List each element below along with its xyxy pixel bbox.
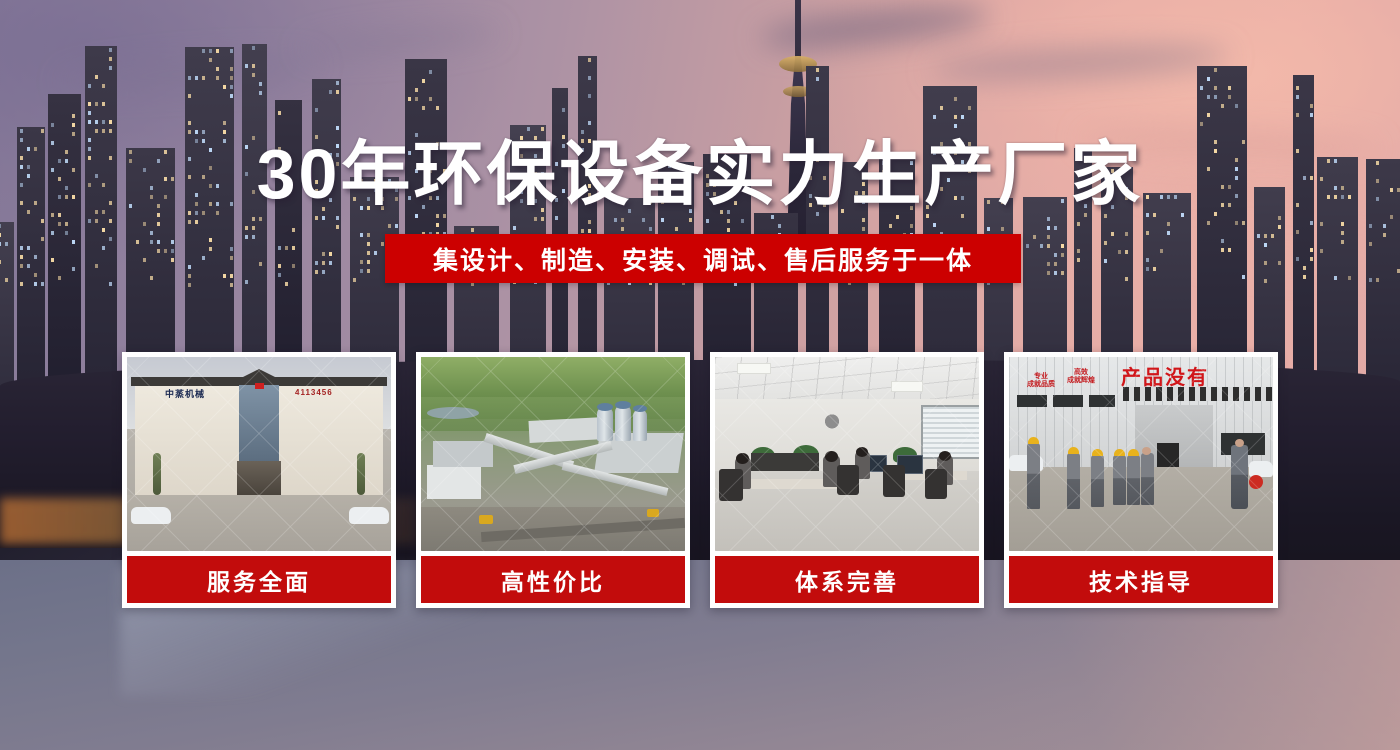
window-light — [727, 228, 730, 232]
window-light — [41, 237, 44, 241]
window-light — [1278, 225, 1281, 229]
window-light — [1026, 244, 1029, 248]
window-light — [223, 274, 226, 278]
window-light — [188, 121, 191, 125]
window-light — [1235, 104, 1238, 108]
window-light — [109, 129, 112, 133]
window-light — [188, 94, 191, 98]
window-light — [360, 269, 363, 273]
window-light — [285, 282, 288, 286]
window-light — [408, 97, 411, 101]
window-light — [1235, 221, 1238, 225]
window-light — [171, 258, 174, 262]
feature-card-label-text: 高性价比 — [501, 563, 605, 597]
banner-headline: 30年环保设备实力生产厂家 — [0, 136, 1400, 212]
window-light — [588, 220, 591, 224]
window-light — [381, 242, 384, 246]
photo-watermark — [127, 357, 391, 551]
window-light — [1153, 213, 1156, 217]
window-light — [150, 240, 153, 244]
window-light — [58, 276, 61, 280]
window-light — [292, 246, 295, 250]
window-light — [315, 216, 318, 220]
window-light — [388, 224, 391, 228]
window-light — [202, 130, 205, 134]
window-light — [889, 224, 892, 228]
window-light — [109, 66, 112, 70]
window-light — [961, 115, 964, 119]
window-light — [588, 121, 591, 125]
window-light — [621, 227, 624, 231]
window-light — [20, 282, 23, 286]
window-light — [143, 222, 146, 226]
window-light — [954, 115, 957, 119]
window-light — [209, 58, 212, 62]
window-light — [336, 90, 339, 94]
window-light — [102, 129, 105, 133]
window-light — [230, 49, 233, 53]
window-light — [415, 214, 418, 218]
window-light — [1200, 122, 1203, 126]
window-light — [1264, 279, 1267, 283]
window-light — [157, 249, 160, 253]
window-light — [51, 231, 54, 235]
window-light — [1104, 259, 1107, 263]
window-light — [1296, 113, 1299, 117]
window-light — [230, 283, 233, 287]
window-light — [1047, 226, 1050, 230]
window-light — [1047, 271, 1050, 275]
window-light — [157, 240, 160, 244]
window-light — [252, 217, 255, 221]
window-light — [1390, 215, 1393, 219]
window-light — [1296, 86, 1299, 90]
window-light — [954, 124, 957, 128]
window-light — [1125, 232, 1128, 236]
workers-training-photo: 产品没有 专业成就品质 高效成就辉煌 — [1009, 357, 1273, 551]
window-light — [1214, 86, 1217, 90]
window-light — [336, 216, 339, 220]
window-light — [1320, 222, 1323, 226]
window-light — [102, 102, 105, 106]
window-light — [34, 255, 37, 259]
window-light — [88, 111, 91, 115]
window-light — [429, 97, 432, 101]
window-light — [41, 219, 44, 223]
window-light — [0, 233, 1, 237]
window-light — [322, 261, 325, 265]
window-light — [1310, 113, 1313, 117]
window-light — [1047, 244, 1050, 248]
feature-card-system[interactable]: 体系完善 — [710, 352, 984, 608]
window-light — [1033, 235, 1036, 239]
office-interior-photo — [715, 357, 979, 551]
window-light — [1310, 248, 1313, 252]
window-light — [1047, 235, 1050, 239]
window-light — [1369, 242, 1372, 246]
banner-subtitle-text: 集设计、制造、安装、调试、售后服务于一体 — [433, 241, 973, 277]
window-light — [661, 218, 664, 222]
window-light — [27, 264, 30, 268]
window-light — [1214, 95, 1217, 99]
window-light — [216, 49, 219, 53]
window-light — [1200, 86, 1203, 90]
window-light — [415, 88, 418, 92]
window-light — [933, 223, 936, 227]
window-light — [1061, 271, 1064, 275]
window-light — [336, 81, 339, 85]
window-light — [102, 246, 105, 250]
feature-card-label: 体系完善 — [715, 556, 979, 603]
window-light — [72, 114, 75, 118]
feature-card-training[interactable]: 产品没有 专业成就品质 高效成就辉煌 — [1004, 352, 1278, 608]
window-light — [395, 224, 398, 228]
company-office-building-photo: 中蒸机械 4113456 — [127, 357, 391, 551]
window-light — [1221, 104, 1224, 108]
window-light — [1054, 253, 1057, 257]
window-light — [202, 49, 205, 53]
window-light — [150, 276, 153, 280]
window-light — [72, 240, 75, 244]
window-light — [1264, 243, 1267, 247]
window-light — [1153, 267, 1156, 271]
banner-subtitle-bar: 集设计、制造、安装、调试、售后服务于一体 — [385, 234, 1021, 283]
window-light — [278, 273, 281, 277]
window-light — [41, 129, 44, 133]
window-light — [741, 219, 744, 223]
window-light — [940, 106, 943, 110]
window-light — [675, 227, 678, 231]
window-light — [1264, 261, 1267, 265]
window-light — [1383, 224, 1386, 228]
photo-watermark — [421, 357, 685, 551]
window-light — [65, 222, 68, 226]
window-light — [436, 106, 439, 110]
window-light — [534, 217, 537, 221]
window-light — [88, 84, 91, 88]
window-light — [527, 127, 530, 131]
window-light — [322, 252, 325, 256]
window-light — [1334, 276, 1337, 280]
window-light — [88, 120, 91, 124]
window-light — [588, 94, 591, 98]
window-light — [541, 127, 544, 131]
window-light — [188, 130, 191, 134]
window-light — [1271, 234, 1274, 238]
window-light — [360, 233, 363, 237]
window-light — [5, 242, 8, 246]
window-light — [649, 227, 652, 231]
window-light — [195, 130, 198, 134]
window-light — [1214, 212, 1217, 216]
window-light — [223, 130, 226, 134]
window-light — [422, 79, 425, 83]
window-light — [1296, 95, 1299, 99]
window-light — [336, 126, 339, 130]
window-light — [171, 249, 174, 253]
window-light — [88, 219, 91, 223]
window-light — [1214, 68, 1217, 72]
window-light — [1160, 249, 1163, 253]
window-light — [188, 283, 191, 287]
window-light — [1383, 233, 1386, 237]
window-light — [1296, 257, 1299, 261]
window-light — [1181, 213, 1184, 217]
window-light — [1047, 262, 1050, 266]
window-light — [95, 102, 98, 106]
window-light — [230, 94, 233, 98]
feature-card-label-text: 体系完善 — [795, 563, 899, 597]
window-light — [862, 227, 865, 231]
window-light — [292, 228, 295, 232]
window-light — [1054, 271, 1057, 275]
feature-card-row: 中蒸机械 4113456 服务全面 — [122, 352, 1278, 608]
window-light — [1278, 216, 1281, 220]
window-light — [259, 262, 262, 266]
window-light — [195, 76, 198, 80]
window-light — [20, 264, 23, 268]
window-light — [95, 120, 98, 124]
window-light — [367, 233, 370, 237]
window-light — [689, 218, 692, 222]
hero-banner: 30年环保设备实力生产厂家 集设计、制造、安装、调试、售后服务于一体 中蒸机械 … — [0, 0, 1400, 750]
window-light — [252, 64, 255, 68]
window-light — [367, 251, 370, 255]
window-light — [51, 123, 54, 127]
window-light — [367, 269, 370, 273]
window-light — [72, 267, 75, 271]
window-light — [245, 280, 248, 284]
window-light — [422, 106, 425, 110]
window-light — [216, 67, 219, 71]
window-light — [102, 228, 105, 232]
window-light — [252, 46, 255, 50]
window-light — [1061, 244, 1064, 248]
window-light — [1084, 213, 1087, 217]
window-light — [1207, 95, 1210, 99]
window-light — [1167, 222, 1170, 226]
window-light — [1146, 213, 1149, 217]
window-light — [1061, 253, 1064, 257]
window-light — [1341, 231, 1344, 235]
window-light — [109, 120, 112, 124]
window-light — [202, 76, 205, 80]
window-light — [34, 282, 37, 286]
window-light — [862, 218, 865, 222]
window-light — [65, 231, 68, 235]
window-light — [910, 224, 913, 228]
window-light — [1376, 278, 1379, 282]
window-light — [95, 219, 98, 223]
window-light — [230, 85, 233, 89]
feature-card-value[interactable]: 高性价比 — [416, 352, 690, 608]
window-light — [95, 129, 98, 133]
window-light — [415, 97, 418, 101]
window-light — [1111, 232, 1114, 236]
window-light — [933, 115, 936, 119]
window-light — [230, 76, 233, 80]
window-light — [27, 246, 30, 250]
window-light — [1221, 248, 1224, 252]
window-light — [188, 265, 191, 269]
window-light — [555, 216, 558, 220]
window-light — [588, 58, 591, 62]
window-light — [188, 274, 191, 278]
window-light — [0, 242, 1, 246]
window-light — [202, 256, 205, 260]
window-light — [1104, 214, 1107, 218]
window-light — [1146, 231, 1149, 235]
window-light — [109, 57, 112, 61]
window-light — [541, 217, 544, 221]
window-light — [778, 224, 781, 228]
window-light — [51, 258, 54, 262]
window-light — [58, 222, 61, 226]
window-light — [209, 247, 212, 251]
window-light — [223, 121, 226, 125]
window-light — [0, 260, 1, 264]
window-light — [1320, 249, 1323, 253]
window-light — [642, 218, 645, 222]
window-light — [1369, 224, 1372, 228]
window-light — [252, 226, 255, 230]
window-light — [1242, 221, 1245, 225]
window-light — [188, 76, 191, 80]
window-light — [109, 219, 112, 223]
window-light — [1125, 250, 1128, 254]
window-light — [51, 213, 54, 217]
window-light — [109, 282, 112, 286]
window-light — [1348, 276, 1351, 280]
window-light — [367, 242, 370, 246]
window-light — [1264, 234, 1267, 238]
window-light — [88, 102, 91, 106]
window-light — [0, 224, 1, 228]
window-light — [230, 247, 233, 251]
window-light — [1310, 104, 1313, 108]
window-light — [436, 214, 439, 218]
window-light — [968, 106, 971, 110]
window-light — [954, 97, 957, 101]
window-light — [727, 219, 730, 223]
window-light — [1242, 275, 1245, 279]
window-light — [1146, 258, 1149, 262]
window-light — [209, 49, 212, 53]
window-light — [5, 278, 8, 282]
window-light — [588, 76, 591, 80]
window-light — [771, 215, 774, 219]
window-light — [1146, 267, 1149, 271]
window-light — [360, 260, 363, 264]
feature-card-service[interactable]: 中蒸机械 4113456 服务全面 — [122, 352, 396, 608]
window-light — [278, 246, 281, 250]
window-light — [278, 264, 281, 268]
window-light — [581, 229, 584, 233]
window-light — [1228, 86, 1231, 90]
window-light — [1310, 257, 1313, 261]
window-light — [1303, 266, 1306, 270]
window-light — [926, 214, 929, 218]
window-light — [621, 218, 624, 222]
window-light — [562, 108, 565, 112]
window-light — [252, 235, 255, 239]
window-light — [102, 84, 105, 88]
window-light — [1167, 231, 1170, 235]
window-light — [987, 227, 990, 231]
window-light — [72, 123, 75, 127]
window-light — [443, 214, 446, 218]
feature-card-label: 技术指导 — [1009, 556, 1273, 603]
window-light — [1040, 244, 1043, 248]
window-light — [315, 108, 318, 112]
window-light — [171, 240, 174, 244]
window-light — [315, 261, 318, 265]
window-light — [230, 67, 233, 71]
window-light — [109, 48, 112, 52]
window-light — [20, 129, 23, 133]
window-light — [816, 77, 819, 81]
window-light — [1221, 239, 1224, 243]
window-light — [329, 261, 332, 265]
window-light — [157, 213, 160, 217]
window-light — [230, 256, 233, 260]
feature-card-label: 高性价比 — [421, 556, 685, 603]
window-light — [95, 264, 98, 268]
window-light — [292, 264, 295, 268]
window-light — [329, 90, 332, 94]
feature-card-label-text: 技术指导 — [1089, 563, 1193, 597]
window-light — [1118, 250, 1121, 254]
window-light — [285, 246, 288, 250]
window-light — [188, 220, 191, 224]
feature-card-label: 服务全面 — [127, 556, 391, 603]
window-light — [245, 64, 248, 68]
window-light — [1077, 222, 1080, 226]
window-light — [1207, 77, 1210, 81]
window-light — [252, 73, 255, 77]
photo-watermark — [715, 357, 979, 551]
window-light — [1207, 221, 1210, 225]
window-light — [374, 251, 377, 255]
window-light — [195, 220, 198, 224]
aerial-production-plant-photo — [421, 357, 685, 551]
window-light — [1310, 221, 1313, 225]
window-light — [230, 274, 233, 278]
window-light — [245, 235, 248, 239]
window-light — [896, 215, 899, 219]
window-light — [322, 216, 325, 220]
window-light — [367, 260, 370, 264]
window-light — [259, 82, 262, 86]
window-light — [513, 226, 516, 230]
window-light — [20, 255, 23, 259]
window-light — [353, 278, 356, 282]
window-light — [136, 240, 139, 244]
photo-watermark — [1009, 357, 1273, 551]
window-light — [58, 213, 61, 217]
window-light — [1341, 240, 1344, 244]
window-light — [259, 91, 262, 95]
window-light — [1296, 230, 1299, 234]
window-light — [223, 85, 226, 89]
window-light — [588, 229, 591, 233]
window-light — [816, 68, 819, 72]
window-light — [209, 238, 212, 242]
window-light — [41, 282, 44, 286]
window-light — [150, 231, 153, 235]
window-light — [1054, 262, 1057, 266]
window-light — [429, 70, 432, 74]
